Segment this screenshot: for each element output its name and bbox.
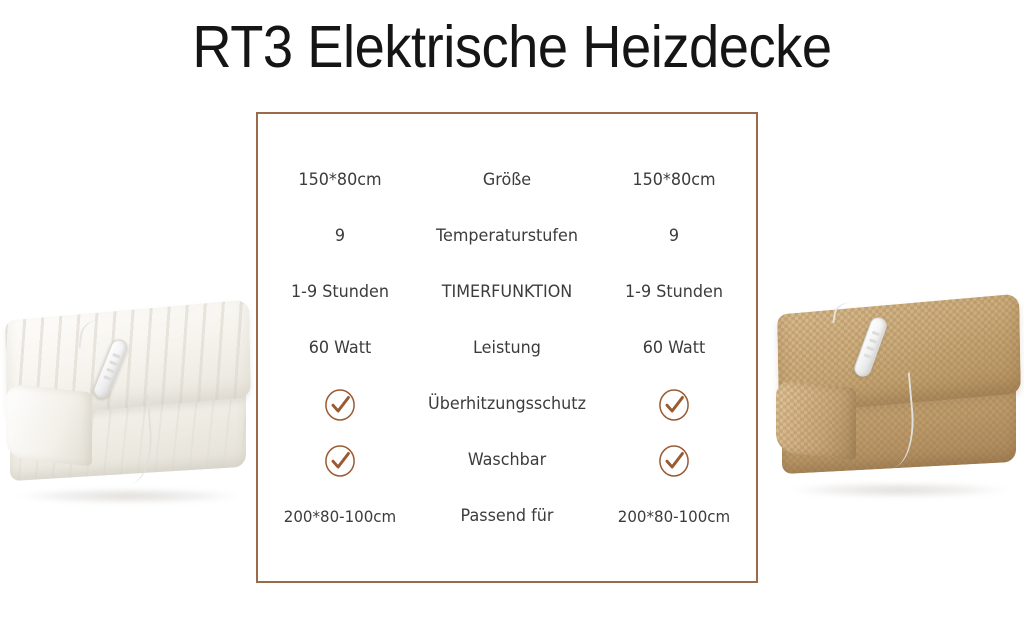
- cell-right-value: 150*80cm: [597, 172, 751, 189]
- cell-right-value: 1-9 Stunden: [597, 284, 751, 301]
- table-row: 150*80cm Größe 150*80cm: [258, 153, 756, 209]
- cell-left-value: 150*80cm: [263, 172, 417, 189]
- cell-spec-label: TIMERFUNKTION: [427, 284, 587, 301]
- cell-left-value: 9: [263, 228, 417, 245]
- table-row: Überhitzungsschutz: [258, 377, 756, 433]
- cell-left-value: 60 Watt: [263, 340, 417, 357]
- blanket-side-fold: [6, 383, 92, 466]
- product-shadow: [791, 482, 1007, 498]
- cell-spec-label: Überhitzungsschutz: [427, 396, 587, 413]
- product-image-right: [776, 288, 1022, 500]
- cell-spec-label: Temperaturstufen: [427, 228, 587, 245]
- cell-left-value: [263, 388, 417, 422]
- cell-left-value: 200*80-100cm: [263, 509, 417, 525]
- blanket-side-fold: [776, 380, 856, 460]
- table-row: 200*80-100cm Passend für 200*80-100cm: [258, 489, 756, 545]
- cell-right-value: 200*80-100cm: [597, 509, 751, 525]
- cell-spec-label: Größe: [427, 172, 587, 189]
- product-image-left: [4, 296, 254, 506]
- page-title: RT3 Elektrische Heizdecke: [41, 12, 983, 83]
- cell-left-value: 1-9 Stunden: [263, 284, 417, 301]
- check-circle-icon: [658, 388, 690, 422]
- check-circle-icon: [658, 444, 690, 478]
- table-row: Waschbar: [258, 433, 756, 489]
- table-row: 60 Watt Leistung 60 Watt: [258, 321, 756, 377]
- cell-spec-label: Leistung: [427, 340, 587, 357]
- cell-right-value: 60 Watt: [597, 340, 751, 357]
- spec-comparison-table: 150*80cm Größe 150*80cm 9 Temperaturstuf…: [256, 112, 758, 583]
- cell-right-value: 9: [597, 228, 751, 245]
- cell-right-value: [597, 444, 751, 478]
- check-circle-icon: [324, 388, 356, 422]
- cell-spec-label: Waschbar: [427, 452, 587, 469]
- check-circle-icon: [324, 444, 356, 478]
- table-row: 1-9 Stunden TIMERFUNKTION 1-9 Stunden: [258, 265, 756, 321]
- cell-right-value: [597, 388, 751, 422]
- cell-left-value: [263, 444, 417, 478]
- cell-spec-label: Passend für: [427, 508, 587, 525]
- product-shadow: [19, 488, 239, 504]
- table-row: 9 Temperaturstufen 9: [258, 209, 756, 265]
